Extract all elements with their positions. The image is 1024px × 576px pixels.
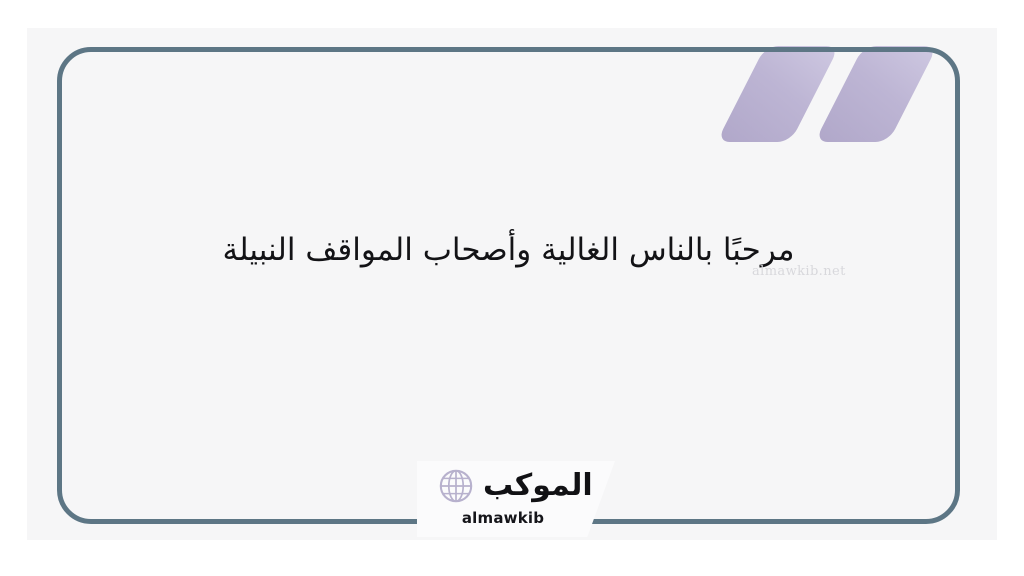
screenshot-stage: مرحبًا بالناس الغالية وأصحاب المواقف الن… — [0, 0, 1024, 576]
logo-arabic-name: الموكب — [483, 471, 593, 501]
quote-text-container: مرحبًا بالناس الغالية وأصحاب المواقف الن… — [57, 47, 960, 524]
logo-row: الموكب — [439, 469, 593, 503]
logo-badge: الموكب almawkib — [417, 461, 615, 537]
logo-latin-name: almawkib — [417, 509, 589, 527]
globe-icon — [439, 469, 473, 503]
quote-text: مرحبًا بالناس الغالية وأصحاب المواقف الن… — [222, 225, 794, 275]
watermark-text: almawkib.net — [752, 264, 846, 279]
